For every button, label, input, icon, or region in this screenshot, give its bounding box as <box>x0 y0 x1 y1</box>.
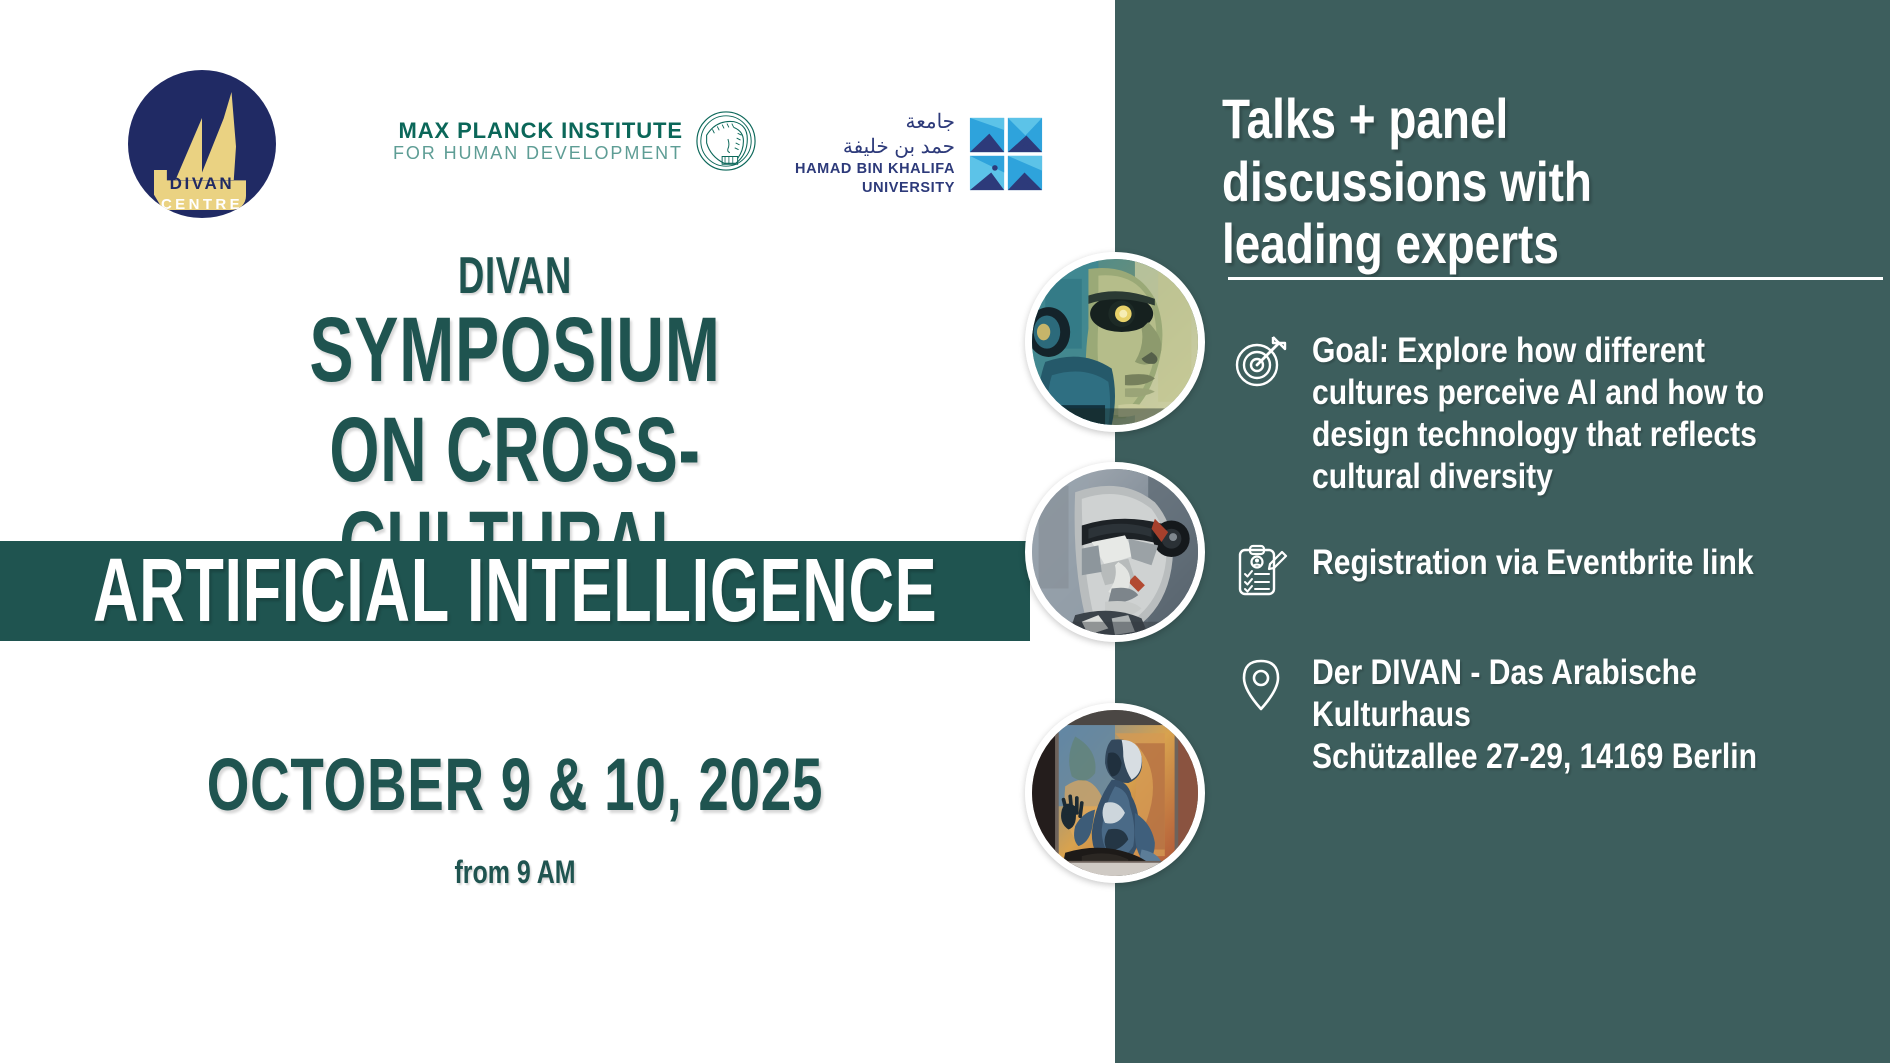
event-poster: DIVAN CENTRE MAX PLANCK INSTITUTE FOR HU… <box>0 0 1890 1063</box>
max-planck-line2: FOR HUMAN DEVELOPMENT <box>393 143 683 164</box>
info-item-location-text: Der DIVAN - Das Arabische Kulturhaus Sch… <box>1312 652 1811 778</box>
humanoid-figure-blue-painting <box>1025 703 1205 883</box>
target-arrow-icon <box>1232 332 1290 390</box>
divan-sail-front-icon <box>168 118 202 180</box>
info-item-registration: Registration via Eventbrite link <box>1232 542 1890 600</box>
divan-centre-logo: DIVAN CENTRE <box>128 70 276 218</box>
robot-head-teal-painting <box>1025 252 1205 432</box>
right-panel-divider <box>1228 277 1883 280</box>
title-banner: ARTIFICIAL INTELLIGENCE <box>0 541 1030 641</box>
max-planck-line1: MAX PLANCK INSTITUTE <box>393 119 683 143</box>
divan-logo-wordmark: DIVAN <box>128 174 276 194</box>
minerva-seal-icon <box>695 110 757 172</box>
location-pin-icon <box>1232 656 1290 714</box>
title-line-symposium: SYMPOSIUM <box>144 304 886 398</box>
info-item-location: Der DIVAN - Das Arabische Kulturhaus Sch… <box>1232 652 1890 778</box>
location-address: Schützallee 27-29, 14169 Berlin <box>1312 736 1811 778</box>
hbku-arabic-line2: حمد بن خليفة <box>795 135 955 160</box>
divan-logo-subtitle: CENTRE <box>128 196 276 213</box>
event-start-time: from 9 AM <box>113 856 916 888</box>
max-planck-wordmark: MAX PLANCK INSTITUTE FOR HUMAN DEVELOPME… <box>393 119 683 163</box>
registration-clipboard-icon <box>1232 542 1290 600</box>
logo-row: DIVAN CENTRE MAX PLANCK INSTITUTE FOR HU… <box>0 62 1115 212</box>
info-item-goal: Goal: Explore how different cultures per… <box>1232 330 1890 498</box>
hbku-square-mark-icon <box>969 117 1043 191</box>
hbku-english-line2: UNIVERSITY <box>795 179 955 198</box>
hbku-wordmark: جامعة حمد بن خليفة HAMAD BIN KHALIFA UNI… <box>795 110 955 198</box>
right-panel-info-list: Goal: Explore how different cultures per… <box>1232 330 1890 822</box>
hbku-english-line1: HAMAD BIN KHALIFA <box>795 160 955 179</box>
event-date: OCTOBER 9 & 10, 2025 <box>134 748 896 822</box>
title-line-artificial-intelligence: ARTIFICIAL INTELLIGENCE <box>93 546 937 636</box>
right-panel-heading: Talks + panel discussions with leading e… <box>1222 88 1730 276</box>
robot-face-steel-painting <box>1025 462 1205 642</box>
hamad-bin-khalifa-university-logo: جامعة حمد بن خليفة HAMAD BIN KHALIFA UNI… <box>795 110 1043 198</box>
info-item-registration-text[interactable]: Registration via Eventbrite link <box>1312 542 1811 584</box>
title-line-divan: DIVAN <box>155 250 876 302</box>
max-planck-institute-logo: MAX PLANCK INSTITUTE FOR HUMAN DEVELOPME… <box>393 110 757 172</box>
info-item-goal-text: Goal: Explore how different cultures per… <box>1312 330 1811 498</box>
hbku-arabic-line1: جامعة <box>795 110 955 135</box>
location-venue: Der DIVAN - Das Arabische Kulturhaus <box>1312 652 1811 736</box>
event-date-block: OCTOBER 9 & 10, 2025 from 9 AM <box>0 748 1030 888</box>
